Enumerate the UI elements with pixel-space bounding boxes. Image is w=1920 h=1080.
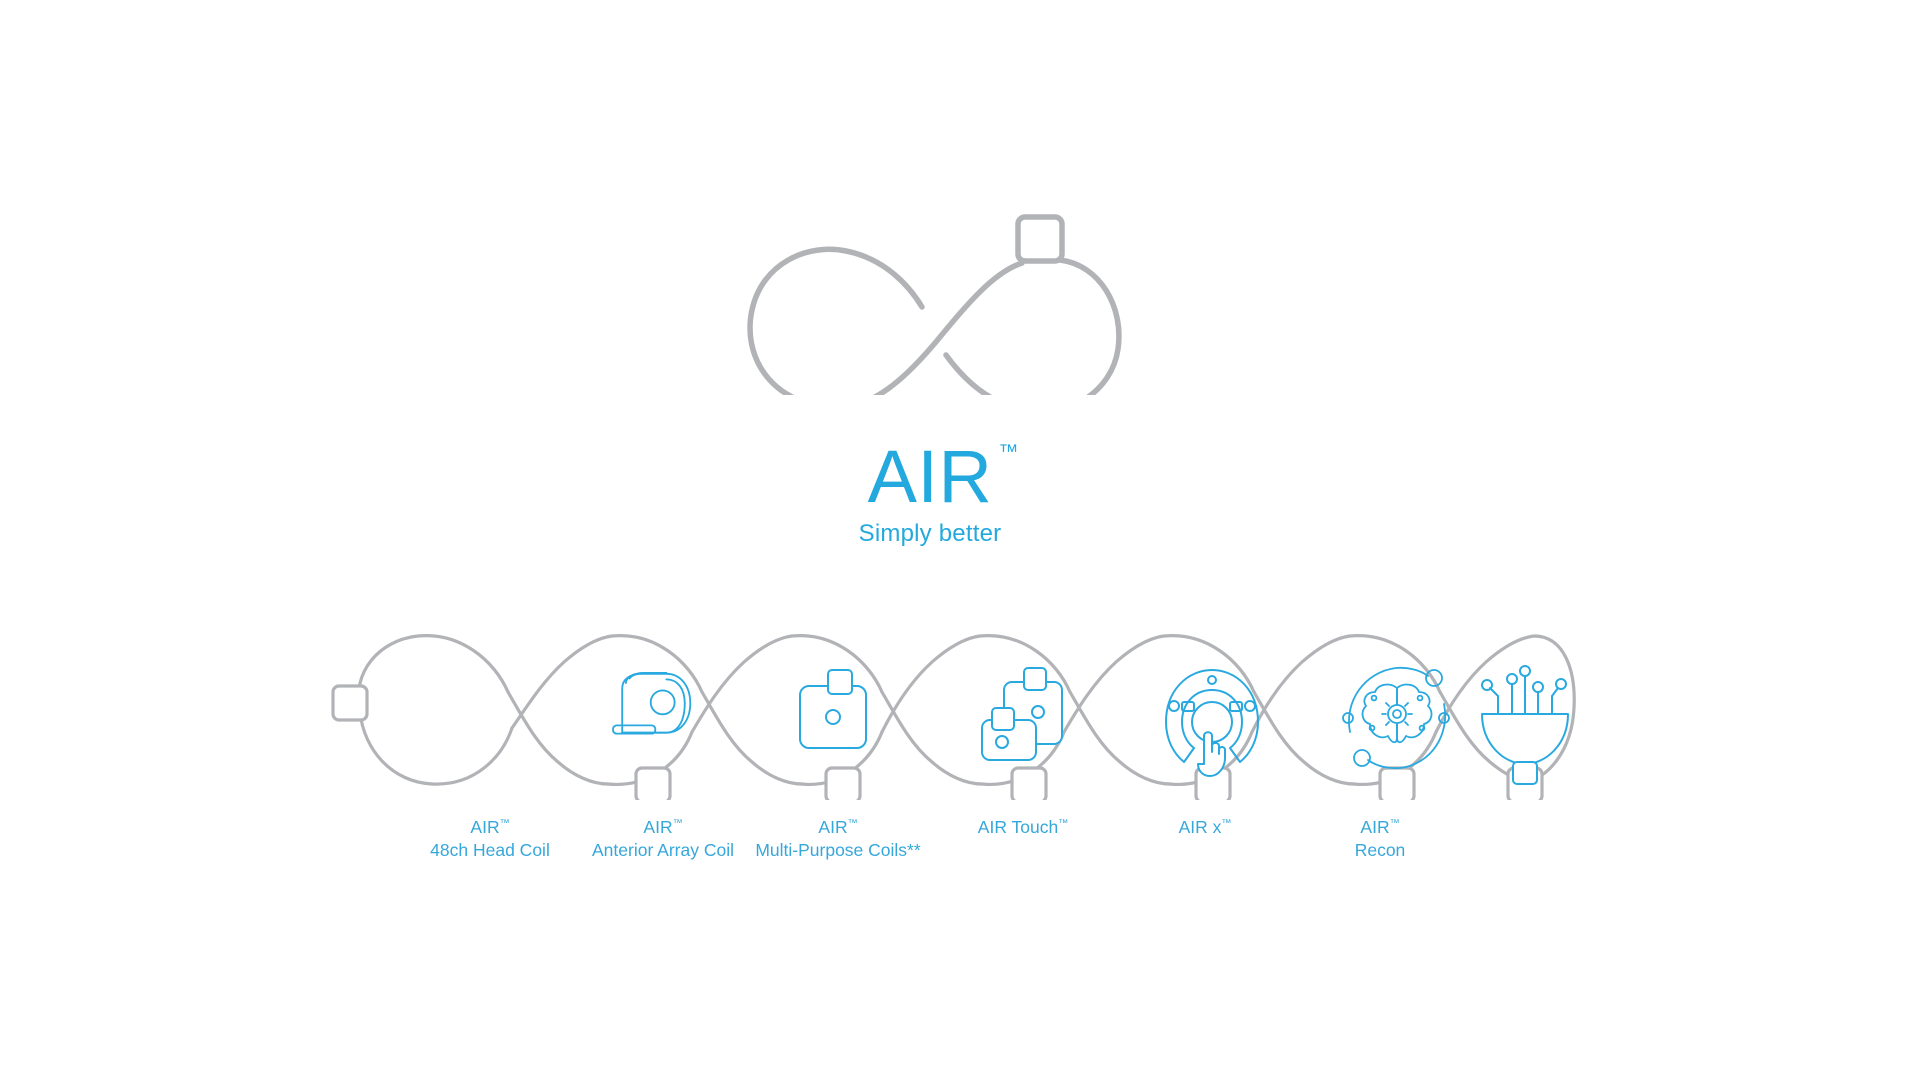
chain-connector-square-3	[826, 768, 860, 800]
chain-label-4-name: AIR Touch	[978, 817, 1058, 837]
infinity-chain-graphic	[330, 620, 1580, 800]
page-canvas: AIR ™ Simply better	[0, 0, 1920, 1080]
trademark-symbol: ™	[998, 442, 1018, 462]
chain-label-2-top: AIR™	[643, 812, 682, 839]
chain-label-5-top: AIR x™	[1179, 812, 1232, 839]
trademark-icon: ™	[1390, 818, 1400, 829]
logo-connector-square-top	[1018, 217, 1062, 261]
chain-cross-1b	[512, 636, 612, 728]
chain-labels: AIR™ 48ch Head Coil AIR™ Anterior Array …	[330, 812, 1580, 882]
anterior-array-coil-icon	[800, 670, 866, 748]
trademark-icon: ™	[1221, 818, 1231, 829]
chain-label-4-top: AIR Touch™	[978, 812, 1068, 839]
trademark-icon: ™	[848, 818, 858, 829]
chain-label-1-top: AIR™	[470, 812, 509, 839]
air-wordmark: AIR ™ Simply better	[760, 440, 1100, 548]
trademark-icon: ™	[1058, 818, 1068, 829]
air-touch-icon	[1166, 670, 1258, 776]
chain-label-6-name: AIR	[1360, 817, 1389, 837]
tagline: Simply better	[760, 520, 1100, 548]
chain-cross-1	[508, 692, 608, 784]
page-title: AIR	[868, 435, 993, 518]
chain-label-3-top: AIR™	[818, 812, 857, 839]
chain-loop-1	[333, 636, 512, 784]
chain-connector-square-2	[636, 768, 670, 800]
chain-loop-3	[792, 636, 882, 800]
chain-label-5-name: AIR x	[1179, 817, 1222, 837]
trademark-icon: ™	[673, 818, 683, 829]
air-infinity-logo	[730, 195, 1130, 395]
chain-label-3-sub: Multi-Purpose Coils**	[723, 839, 953, 862]
chain-label-3-name: AIR	[818, 817, 847, 837]
multi-purpose-coils-icon	[982, 668, 1062, 760]
chain-label-6[interactable]: AIR™ Recon	[1265, 812, 1495, 862]
trademark-icon: ™	[500, 818, 510, 829]
chain-label-1-name: AIR	[470, 817, 499, 837]
air-portfolio-chain	[330, 620, 1580, 800]
chain-label-6-sub: Recon	[1265, 839, 1495, 862]
air-title-line: AIR ™	[868, 440, 993, 514]
chain-label-6-top: AIR™	[1360, 812, 1399, 839]
chain-connector-square-4	[1012, 768, 1046, 800]
air-x-brain-icon	[1343, 668, 1449, 768]
chain-connector-square-6	[1380, 768, 1414, 800]
head-coil-icon	[613, 673, 690, 734]
chain-connector-square-left	[333, 686, 367, 720]
infinity-coil-logo-icon	[730, 195, 1130, 395]
chain-label-2-name: AIR	[643, 817, 672, 837]
